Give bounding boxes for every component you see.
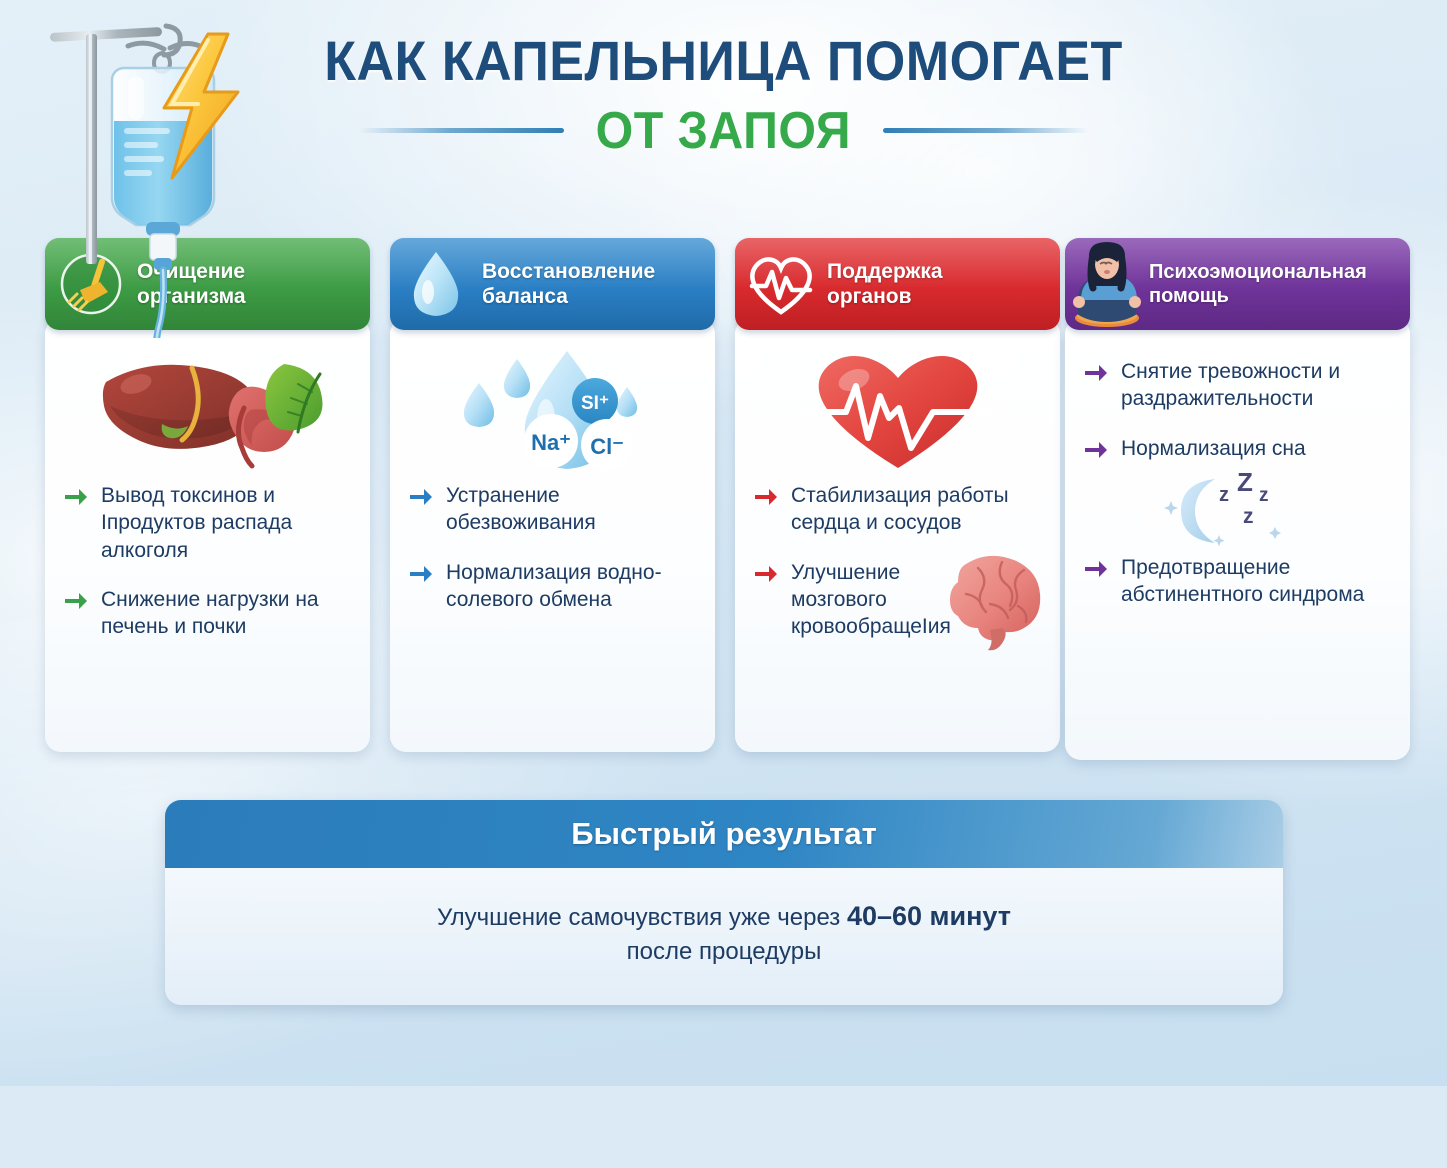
- arrow-right-icon: [753, 485, 779, 509]
- card-organs-title-line2: органов: [827, 284, 943, 309]
- list-item-label: Устранение обезвоживания: [446, 482, 697, 537]
- svg-text:z: z: [1219, 484, 1229, 506]
- card-psycho-header: Психоэмоциональная помощь: [1065, 238, 1410, 330]
- svg-text:z: z: [1243, 505, 1254, 528]
- svg-text:Cl⁻: Cl⁻: [590, 434, 624, 459]
- card-organs-body: Стабилизация работы сердца и сосудов Улу…: [735, 318, 1060, 752]
- arrow-right-icon: [63, 589, 89, 613]
- title-rule-left: [358, 128, 564, 133]
- heart-heartbeat-illustration: [753, 344, 1042, 476]
- card-cleansing-bullets: Вывод токсинов и Iпродуктов распада алко…: [63, 482, 352, 640]
- card-balance-title: Восстановление баланса: [482, 259, 665, 309]
- arrow-right-icon: [1083, 361, 1109, 385]
- arrow-right-icon: [63, 485, 89, 509]
- card-psycho-title-line1: Психоэмоциональная: [1149, 260, 1367, 284]
- list-item-label: Снятие тревожности и раздражительности: [1121, 358, 1392, 413]
- card-organs-title-line1: Поддержка: [827, 259, 943, 284]
- list-item-label: Нормализация сна: [1121, 435, 1306, 462]
- card-cleansing-body: Вывод токсинов и Iпродуктов распада алко…: [45, 318, 370, 752]
- list-item-label: Снижение нагрузки на печень и почки: [101, 586, 352, 641]
- svg-text:Na⁺: Na⁺: [531, 430, 571, 455]
- arrow-right-icon: [1083, 557, 1109, 581]
- arrow-right-icon: [408, 562, 434, 586]
- card-psycho-title-line2: помощь: [1149, 284, 1367, 308]
- fast-result-duration: 40–60 минут: [847, 901, 1011, 931]
- list-item-label: Стабилизация работы сердца и сосудов: [791, 482, 1042, 537]
- title-rule-right: [883, 128, 1089, 133]
- card-organs-header: Поддержка органов: [735, 238, 1060, 330]
- svg-text:z: z: [1259, 485, 1269, 506]
- list-item-label: Улучшение мозгового кровообращеIия: [791, 559, 951, 641]
- title-line-2: ОТ ЗАПОЯ: [596, 101, 851, 161]
- svg-text:Z: Z: [1237, 471, 1253, 497]
- arrow-right-icon: [753, 562, 779, 586]
- sleeping-moon-zzz-illustration: z Z z z: [1083, 468, 1392, 554]
- meditating-woman-icon: [1065, 238, 1149, 330]
- lightning-bolt-icon: [152, 30, 248, 182]
- liver-kidney-leaf-illustration: [63, 344, 352, 476]
- heart-pulse-icon: [735, 238, 827, 330]
- fast-result-line1-prefix: Улучшение самочувствия уже через: [437, 904, 847, 931]
- card-psycho-bullets: Снятие тревожности и раздражительности Н…: [1083, 358, 1392, 608]
- svg-text:SI⁺: SI⁺: [581, 393, 609, 414]
- card-organs[interactable]: Поддержка органов: [735, 238, 1060, 752]
- list-item: Предотвращение абстинентного синдрома: [1083, 554, 1392, 609]
- list-item: Устранение обезвоживания: [408, 482, 697, 537]
- arrow-right-icon: [408, 485, 434, 509]
- fast-result-line1: Улучшение самочувствия уже через 40–60 м…: [225, 898, 1223, 934]
- card-organs-title: Поддержка органов: [827, 259, 953, 309]
- arrow-right-icon: [1083, 438, 1109, 462]
- card-organs-bullets: Стабилизация работы сердца и сосудов Улу…: [753, 482, 1042, 640]
- list-item-label: Вывод токсинов и Iпродуктов распада алко…: [101, 482, 352, 564]
- list-item: Снижение нагрузки на печень и почки: [63, 586, 352, 641]
- card-balance[interactable]: Восстановление баланса: [390, 238, 715, 752]
- card-psycho[interactable]: Психоэмоциональная помощь Снятие тревожн…: [1065, 238, 1410, 760]
- card-balance-title-line2: баланса: [482, 284, 655, 309]
- fast-result-banner-body: Улучшение самочувствия уже через 40–60 м…: [165, 868, 1283, 966]
- list-item-label: Предотвращение абстинентного синдрома: [1121, 554, 1392, 609]
- card-psycho-body: Снятие тревожности и раздражительности Н…: [1065, 318, 1410, 760]
- list-item: Стабилизация работы сердца и сосудов: [753, 482, 1042, 537]
- fast-result-line2: после процедуры: [225, 938, 1223, 966]
- list-item-label: Нормализация водно-солевого обмена: [446, 559, 697, 614]
- card-psycho-title: Психоэмоциональная помощь: [1149, 260, 1377, 308]
- fast-result-banner-header: Быстрый результат: [165, 800, 1283, 868]
- card-balance-bullets: Устранение обезвоживания Нормализация во…: [408, 482, 697, 613]
- title-line-1: КАК КАПЕЛЬНИЦА ПОМОГАЕТ: [51, 32, 1397, 91]
- brain-illustration: [932, 548, 1050, 652]
- list-item: Нормализация водно-солевого обмена: [408, 559, 697, 614]
- list-item: Снятие тревожности и раздражительности: [1083, 358, 1392, 413]
- fast-result-title: Быстрый результат: [571, 816, 877, 852]
- fast-result-banner: Быстрый результат Улучшение самочувствия…: [165, 800, 1283, 1005]
- water-drop-icon: [390, 238, 482, 330]
- electrolyte-droplets-illustration: SI⁺ Na⁺ Cl⁻: [408, 344, 697, 476]
- card-balance-body: SI⁺ Na⁺ Cl⁻ Устранение обезвоживания: [390, 318, 715, 752]
- list-item: Вывод токсинов и Iпродуктов распада алко…: [63, 482, 352, 564]
- list-item: Нормализация сна: [1083, 435, 1392, 462]
- card-balance-title-line1: Восстановление: [482, 259, 655, 284]
- card-balance-header: Восстановление баланса: [390, 238, 715, 330]
